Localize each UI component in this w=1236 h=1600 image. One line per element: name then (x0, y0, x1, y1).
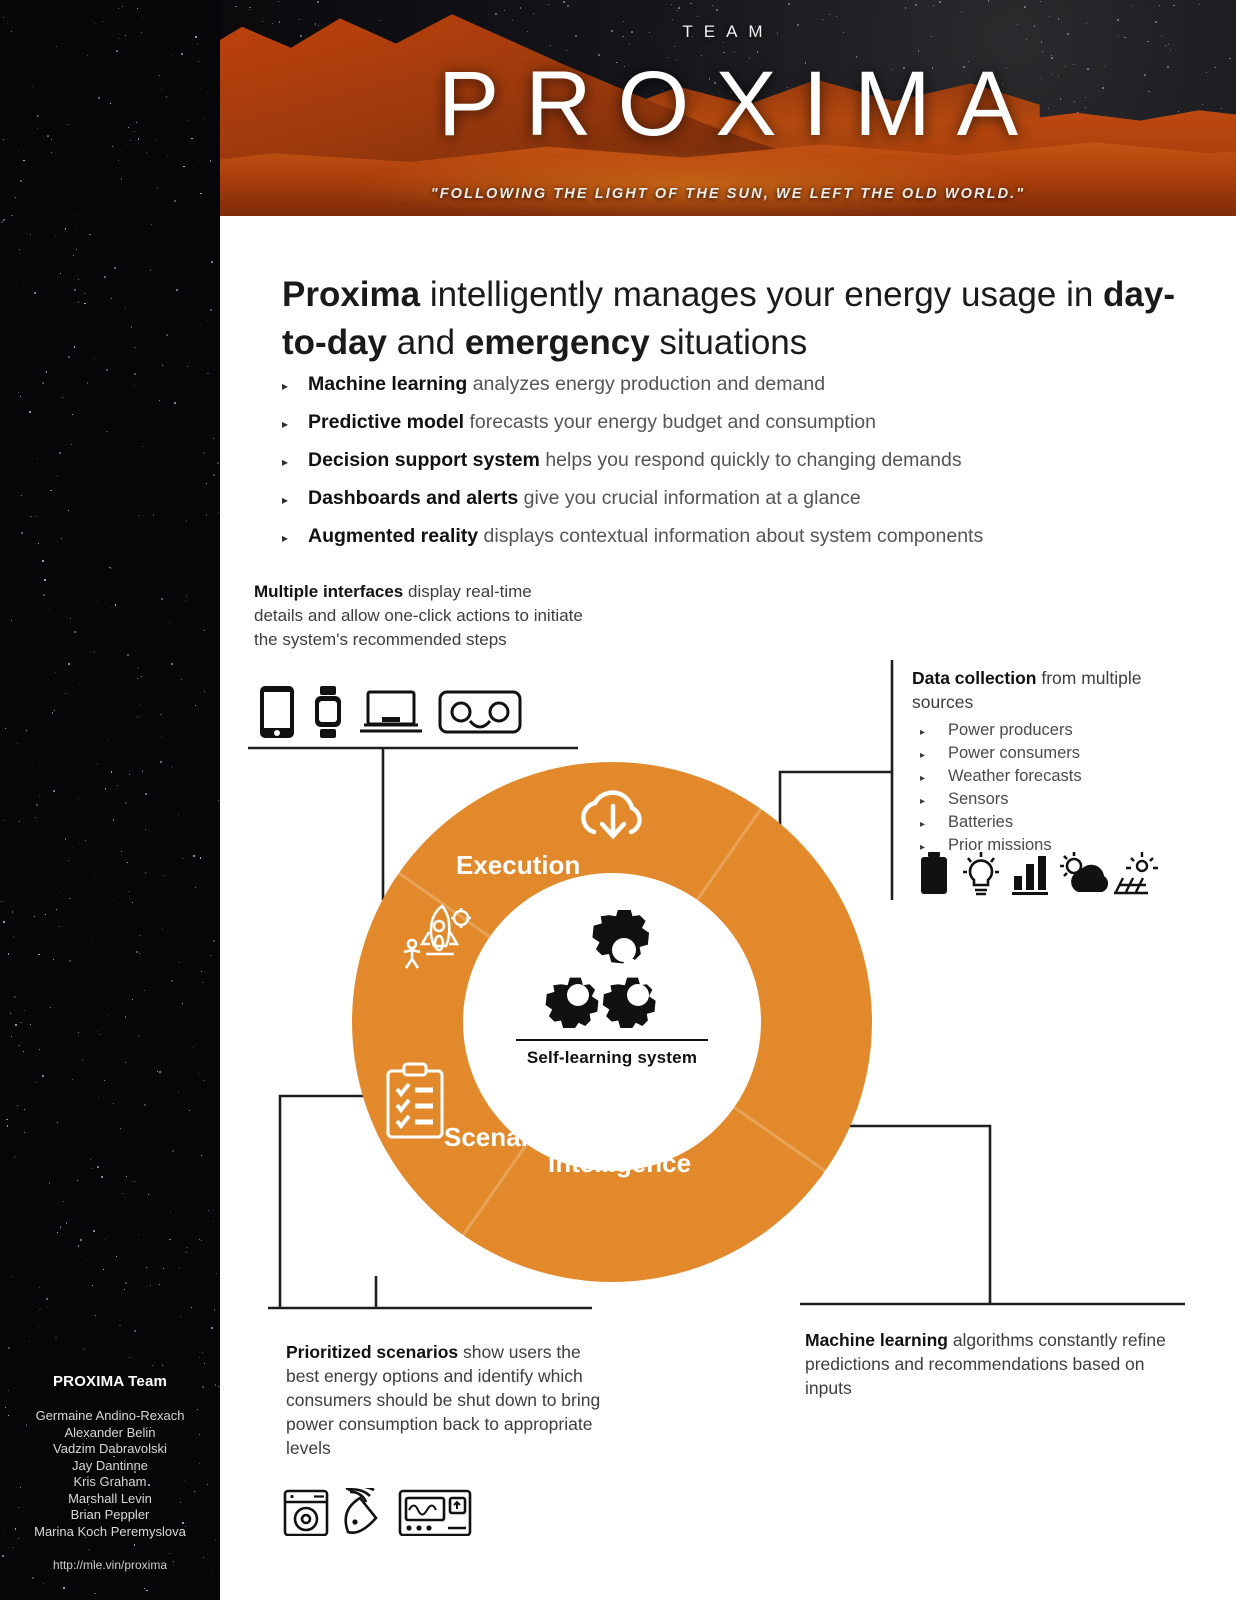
vr-headset-icon (440, 692, 520, 732)
satellite-dish-icon (346, 1488, 376, 1533)
banner-title: PROXIMA (220, 56, 1236, 152)
callout-multiple-interfaces: Multiple interfaces display real-time de… (254, 580, 584, 652)
core-divider (516, 1039, 708, 1041)
team-credits: PROXIMA Team Germaine Andino-RexachAlexa… (0, 1373, 220, 1572)
interface-icon-row (254, 684, 524, 740)
cycle-core: Self-learning system (482, 910, 742, 1068)
washing-machine-icon (285, 1491, 327, 1535)
data-source-list: ▸Power producers▸Power consumers▸Weather… (920, 720, 1170, 858)
rocket-launch-icon (402, 902, 478, 979)
callout-data-collection: Data collection from multiple sources (912, 666, 1162, 714)
data-source-label: Sensors (948, 789, 1009, 809)
starfield-decoration (0, 0, 220, 1600)
feature-item: ▸Predictive model forecasts your energy … (282, 404, 1192, 442)
data-source-icon-row (918, 850, 1158, 896)
feature-text: Predictive model forecasts your energy b… (308, 404, 876, 440)
data-source-item: ▸Weather forecasts (920, 766, 1170, 789)
team-member: Alexander Belin (0, 1425, 220, 1442)
bullet-triangle-icon: ▸ (920, 769, 948, 789)
team-member: Marshall Levin (0, 1491, 220, 1508)
callout-prioritized-scenarios: Prioritized scenarios show users the bes… (286, 1340, 606, 1460)
team-member: Germaine Andino-Rexach (0, 1408, 220, 1425)
data-source-label: Weather forecasts (948, 766, 1082, 786)
team-member: Brian Peppler (0, 1507, 220, 1524)
feature-item: ▸Machine learning analyzes energy produc… (282, 366, 1192, 404)
feature-text: Dashboards and alerts give you crucial i… (308, 480, 861, 516)
laptop-icon (360, 692, 422, 731)
team-member: Marina Koch Peremyslova (0, 1524, 220, 1541)
bullet-triangle-icon: ▸ (282, 368, 308, 404)
feature-text: Decision support system helps you respon… (308, 442, 962, 478)
cloud-download-icon (572, 784, 654, 851)
solar-panel-icon (1114, 852, 1158, 893)
feature-item: ▸Decision support system helps you respo… (282, 442, 1192, 480)
team-member: Vadzim Dabravolski (0, 1441, 220, 1458)
callout-machine-learning: Machine learning algorithms constantly r… (805, 1328, 1185, 1400)
bullet-triangle-icon: ▸ (920, 792, 948, 812)
scenario-icon-row (282, 1488, 472, 1536)
bullet-triangle-icon: ▸ (282, 520, 308, 556)
checklist-clipboard-icon (382, 1062, 448, 1145)
data-source-label: Power producers (948, 720, 1073, 740)
data-source-item: ▸Batteries (920, 812, 1170, 835)
weather-cloud-sun-icon (1060, 852, 1108, 892)
data-source-label: Power consumers (948, 743, 1080, 763)
data-source-item: ▸Power producers (920, 720, 1170, 743)
feature-list: ▸Machine learning analyzes energy produc… (282, 366, 1192, 556)
three-gears-icon (536, 910, 688, 1028)
team-member: Jay Dantinne (0, 1458, 220, 1475)
data-source-item: ▸Sensors (920, 789, 1170, 812)
feature-text: Machine learning analyzes energy product… (308, 366, 825, 402)
laptop-trackpad (382, 717, 400, 722)
page-headline: Proxima intelligently manages your energ… (282, 271, 1182, 367)
data-source-label: Batteries (948, 812, 1013, 832)
bullet-triangle-icon: ▸ (920, 746, 948, 766)
team-url[interactable]: http://mle.vin/proxima (0, 1558, 220, 1572)
battery-icon (921, 852, 947, 894)
control-panel-icon (400, 1491, 470, 1535)
quadrant-label-execution[interactable]: Execution (456, 850, 580, 881)
main-content: Proxima intelligently manages your energ… (220, 216, 1236, 1600)
bullet-triangle-icon: ▸ (920, 815, 948, 835)
data-source-item: ▸Power consumers (920, 743, 1170, 766)
core-label: Self-learning system (482, 1048, 742, 1068)
lightbulb-icon (963, 852, 999, 894)
bullet-triangle-icon: ▸ (282, 444, 308, 480)
team-member-list: Germaine Andino-RexachAlexander BelinVad… (0, 1408, 220, 1540)
bullet-triangle-icon: ▸ (282, 482, 308, 518)
feature-item: ▸Augmented reality displays contextual i… (282, 518, 1192, 556)
team-heading: PROXIMA Team (0, 1373, 220, 1390)
smartwatch-icon (315, 686, 341, 738)
header-banner: TEAM PROXIMA "FOLLOWING THE LIGHT OF THE… (220, 0, 1236, 216)
feature-item: ▸Dashboards and alerts give you crucial … (282, 480, 1192, 518)
team-member: Kris Graham (0, 1474, 220, 1491)
feature-text: Augmented reality displays contextual in… (308, 518, 983, 554)
bar-chart-icon (1012, 856, 1048, 895)
starfield-sidebar: PROXIMA Team Germaine Andino-RexachAlexa… (0, 0, 220, 1600)
cycle-diagram: Execution Inputs Intelligence Scenarios … (352, 762, 872, 1282)
bullet-triangle-icon: ▸ (282, 406, 308, 442)
banner-eyebrow: TEAM (220, 22, 1236, 42)
banner-tagline: "FOLLOWING THE LIGHT OF THE SUN, WE LEFT… (220, 186, 1236, 202)
bullet-triangle-icon: ▸ (920, 723, 948, 743)
tablet-icon (260, 686, 294, 738)
